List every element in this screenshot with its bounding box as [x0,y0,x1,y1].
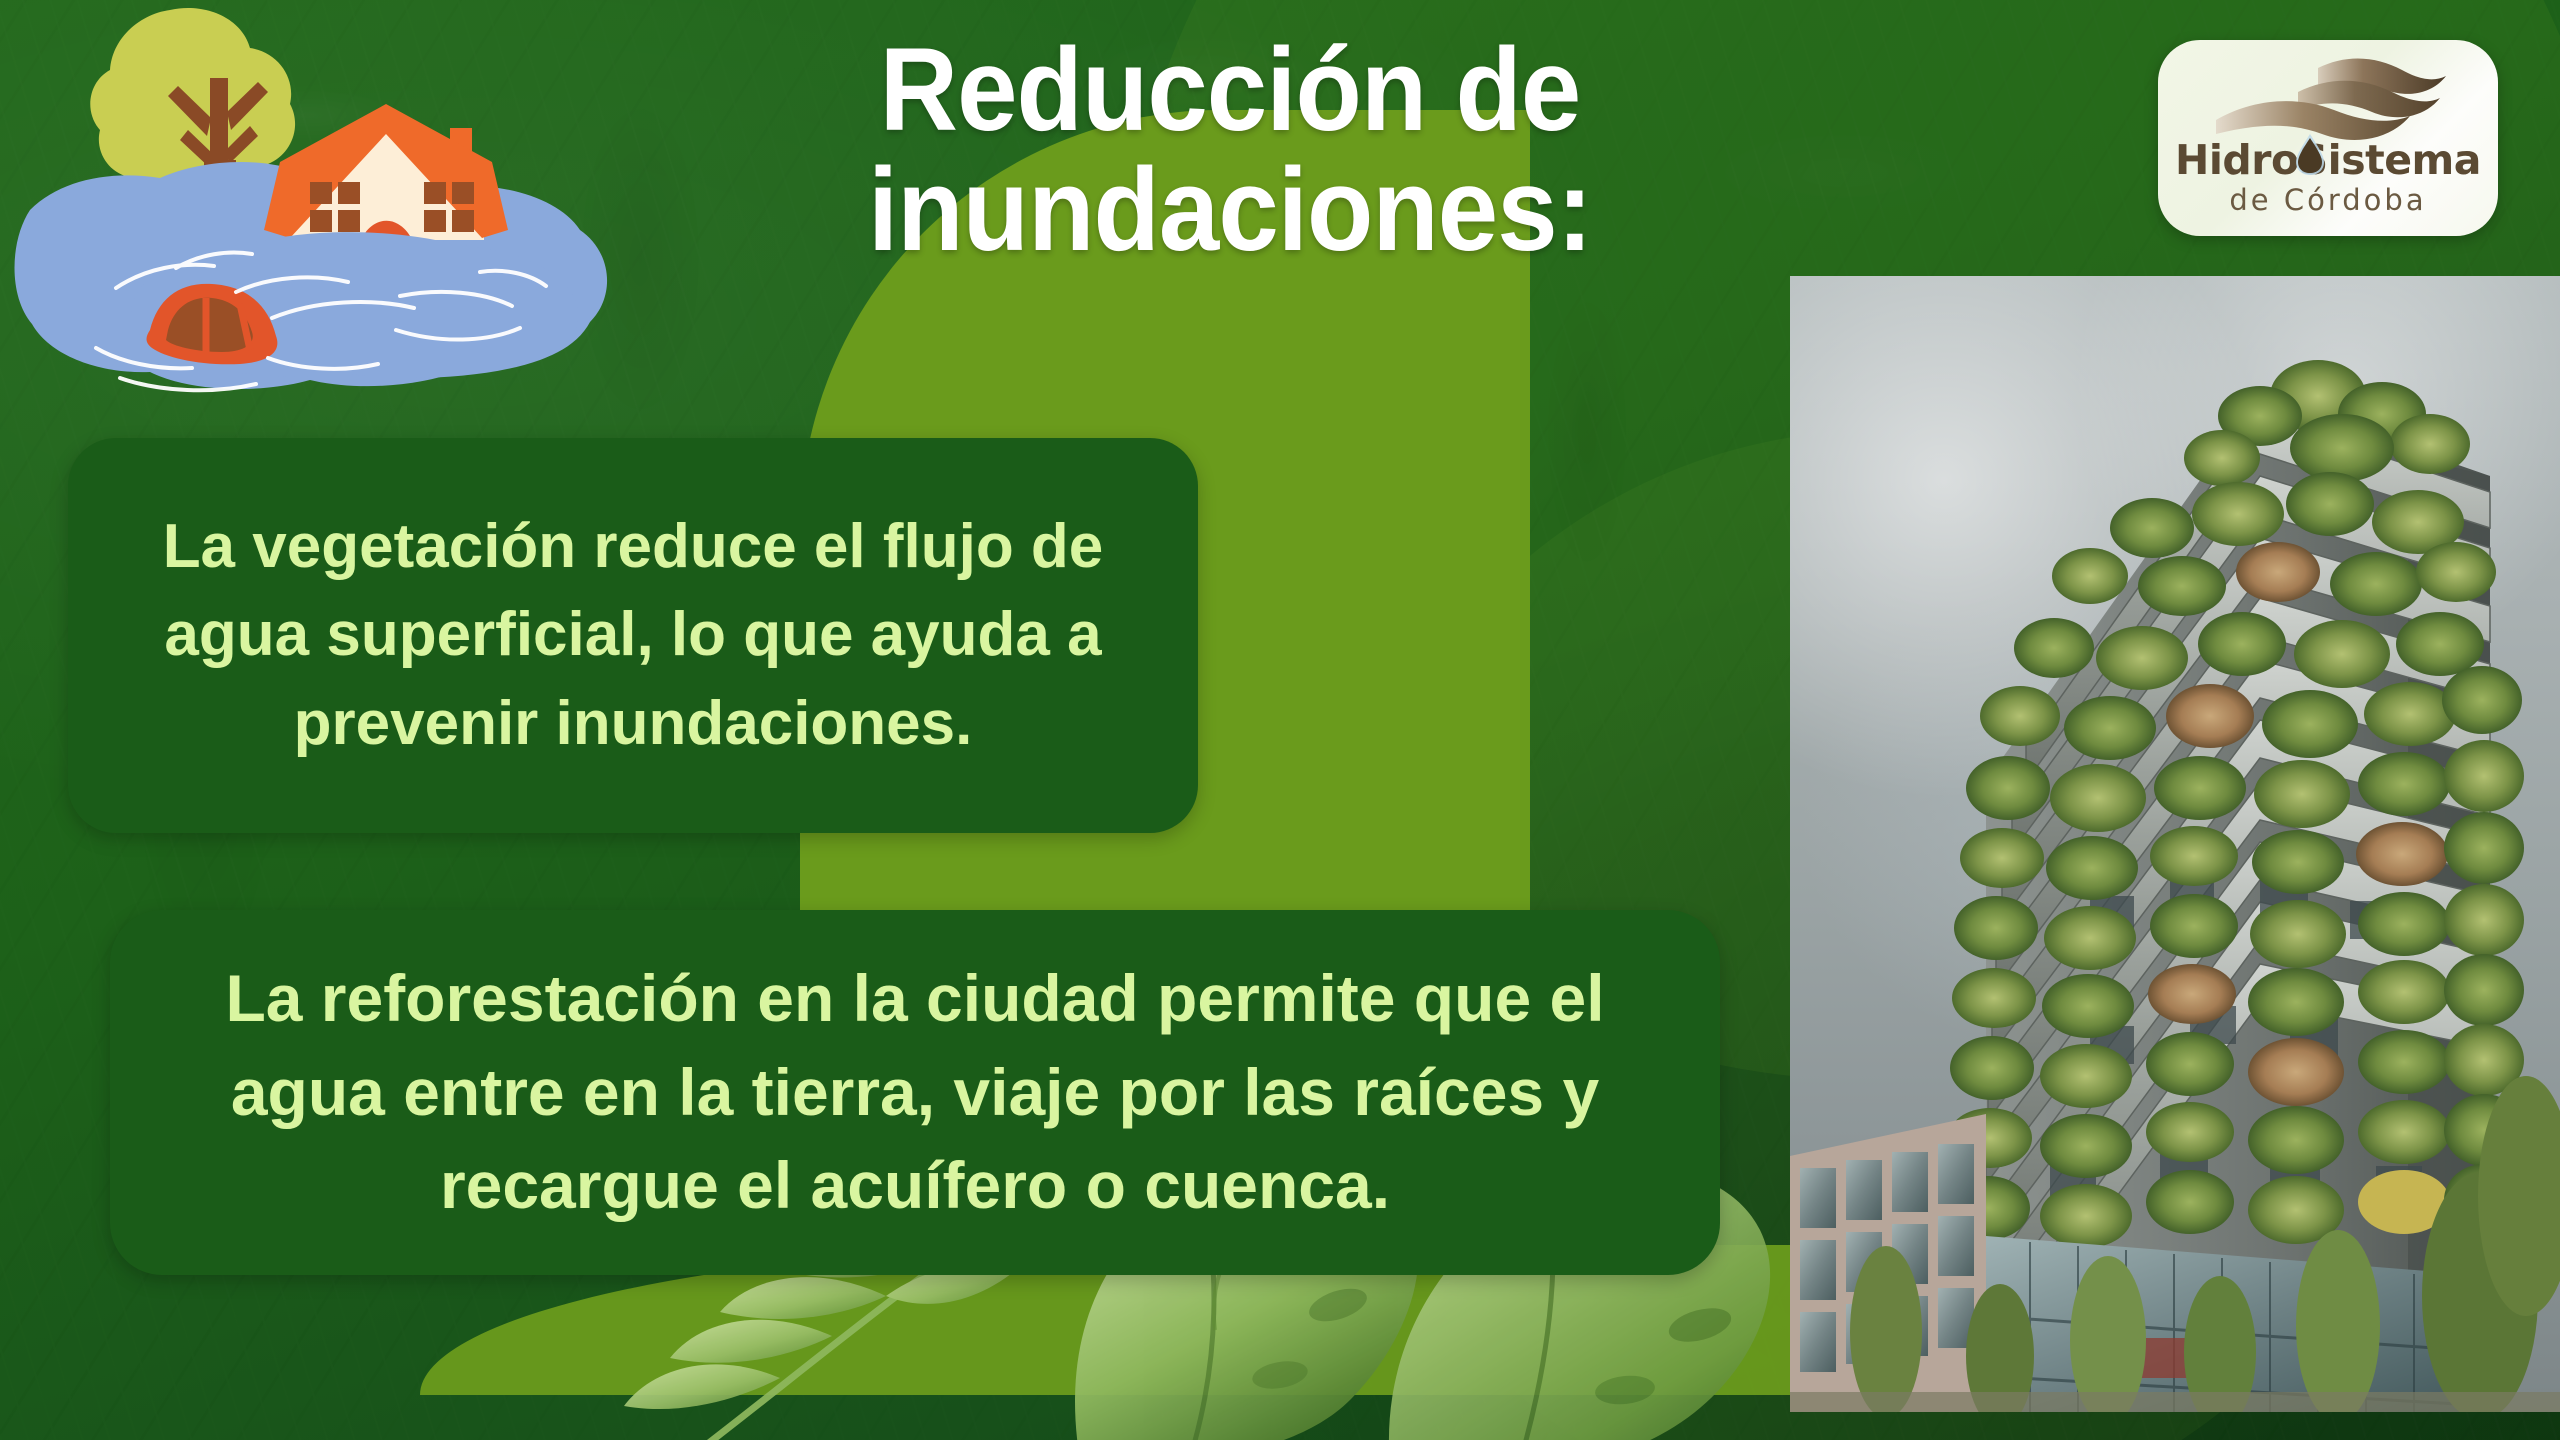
title-line-1: Reducción de [742,30,1717,150]
info-card-reforestation: La reforestación en la ciudad permite qu… [110,910,1720,1275]
title-line-2: inundaciones: [742,150,1717,270]
info-card-vegetation: La vegetación reduce el flujo de agua su… [68,438,1198,833]
info-card-reforestation-text: La reforestación en la ciudad permite qu… [158,952,1672,1233]
logo-subtitle: de Córdoba [2158,183,2498,217]
hidrosistema-logo[interactable]: HidroSistema de Córdoba [2158,40,2498,236]
info-card-vegetation-text: La vegetación reduce el flujo de agua su… [120,503,1146,767]
logo-wordmark: HidroSistema [2158,136,2498,184]
vertical-forest-photo [1790,276,2560,1412]
wave-icon [2216,58,2446,140]
page-title: Reducción de inundaciones: [742,30,1717,271]
infographic-slide: Reducción de inundaciones: [0,0,2560,1440]
flooded-house-illustration [0,0,640,420]
water-droplet-icon [2296,134,2324,175]
